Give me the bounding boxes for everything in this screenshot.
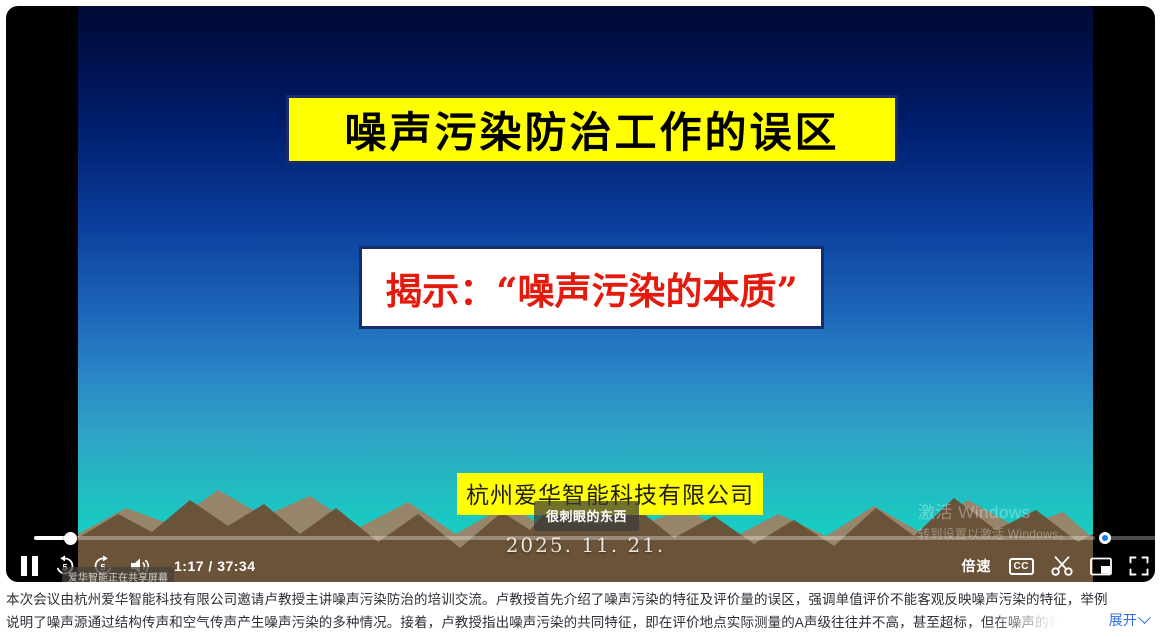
slide-subtitle: 揭示：“噪声污染的本质” — [385, 261, 798, 315]
video-player: 噪声污染防治工作的误区 揭示：“噪声污染的本质” 杭州爱华智能科技有限公司 很刺… — [6, 6, 1155, 582]
progress-handle[interactable] — [64, 532, 77, 545]
fullscreen-button[interactable] — [1129, 556, 1149, 576]
expand-summary-button[interactable]: 展开 — [1103, 609, 1149, 632]
picture-in-picture-button[interactable] — [1090, 557, 1112, 576]
progress-track[interactable] — [34, 536, 1095, 540]
player-controls-right: 倍速 CC — [962, 550, 1149, 582]
expand-summary-label: 展开 — [1109, 609, 1137, 632]
slide-subtitle-box: 揭示：“噪声污染的本质” — [359, 246, 824, 329]
volume-slider[interactable] — [1099, 533, 1155, 543]
clip-button[interactable] — [1051, 555, 1073, 577]
pause-button[interactable] — [20, 555, 39, 577]
summary-line-1: 本次会议由杭州爱华智能科技有限公司邀请卢教授主讲噪声污染防治的培训交流。卢教授首… — [6, 588, 1155, 611]
video-stage[interactable]: 噪声污染防治工作的误区 揭示：“噪声污染的本质” 杭州爱华智能科技有限公司 很刺… — [78, 6, 1093, 582]
annotation-tooltip: 很刺眼的东西 — [534, 501, 639, 531]
volume-slider-handle[interactable] — [1099, 532, 1111, 544]
captions-button[interactable]: CC — [1009, 558, 1034, 575]
video-summary: 本次会议由杭州爱华智能科技有限公司邀请卢教授主讲噪声污染防治的培训交流。卢教授首… — [6, 588, 1155, 634]
slide-title-box: 噪声污染防治工作的误区 — [286, 95, 898, 164]
time-display: 1:17 / 37:34 — [174, 558, 256, 574]
progress-bar[interactable] — [6, 531, 1155, 545]
screen-share-toast: 爱华智能正在共享屏幕 — [62, 567, 174, 582]
presentation-slide: 噪声污染防治工作的误区 揭示：“噪声污染的本质” 杭州爱华智能科技有限公司 很刺… — [78, 6, 1093, 582]
slide-title: 噪声污染防治工作的误区 — [344, 99, 839, 160]
playback-speed-button[interactable]: 倍速 — [962, 556, 992, 576]
summary-line-2: 说明了噪声源通过结构传声和空气传声产生噪声污染的多种情况。接着，卢教授指出噪声污… — [6, 611, 1155, 634]
cc-icon: CC — [1009, 558, 1034, 575]
chevron-down-icon — [1138, 611, 1151, 624]
playback-speed-label: 倍速 — [962, 556, 992, 576]
